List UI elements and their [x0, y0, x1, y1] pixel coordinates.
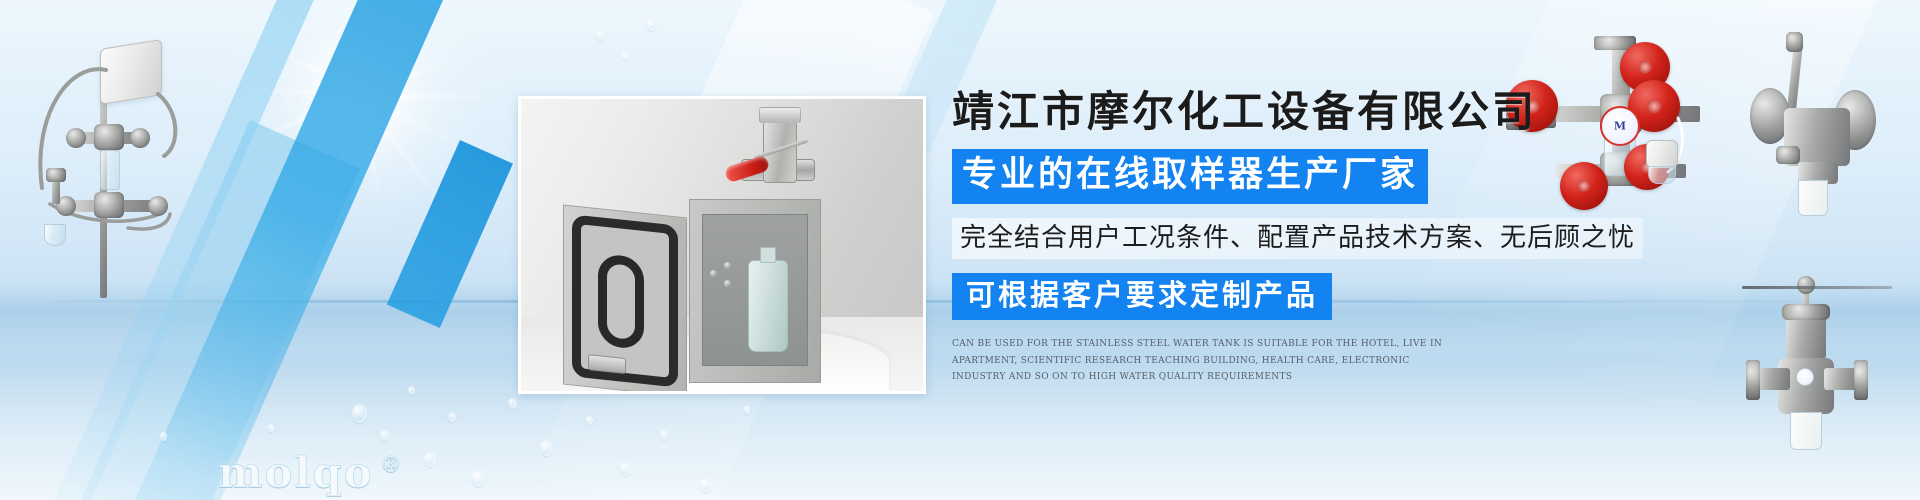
- diagonal-stripe-light: [21, 0, 361, 500]
- top-valve-assembly: [733, 105, 825, 209]
- instrument-housing: [100, 39, 162, 105]
- water-droplet: [160, 432, 167, 441]
- water-droplet: [424, 452, 436, 467]
- water-droplet: [268, 424, 274, 432]
- main-product-photo: [518, 96, 926, 394]
- left-equipment-assembly: [8, 28, 198, 298]
- company-name: 靖江市摩尔化工设备有限公司: [952, 87, 1537, 136]
- water-droplet: [660, 430, 668, 440]
- water-droplet: [586, 416, 593, 425]
- headline-highlight: 专业的在线取样器生产厂家: [952, 149, 1428, 204]
- company-name-row: 靖江市摩尔化工设备有限公司: [952, 88, 1742, 135]
- banner-text-block: 靖江市摩尔化工设备有限公司 专业的在线取样器生产厂家 完全结合用户工况条件、配置…: [952, 88, 1742, 386]
- water-droplet: [380, 430, 389, 441]
- registered-mark-icon: ®: [380, 452, 404, 478]
- water-droplet: [352, 404, 367, 423]
- subline-row: 完全结合用户工况条件、配置产品技术方案、无后顾之忧: [952, 218, 1742, 259]
- water-droplet: [540, 440, 553, 456]
- subline-text: 完全结合用户工况条件、配置产品技术方案、无后顾之忧: [952, 218, 1643, 259]
- diagonal-stripe-blue: [86, 0, 491, 500]
- enclosure-door: [563, 204, 687, 394]
- valve-handwheel: [1620, 42, 1670, 92]
- english-caption: CAN BE USED FOR THE STAINLESS STEEL WATE…: [952, 336, 1462, 386]
- headline-row: 专业的在线取样器生产厂家: [952, 149, 1742, 204]
- custom-row: 可根据客户要求定制产品: [952, 273, 1742, 320]
- water-droplet: [620, 462, 631, 476]
- water-droplet: [622, 52, 628, 60]
- water-droplet: [596, 30, 605, 41]
- water-droplet: [408, 386, 415, 395]
- water-droplet: [508, 398, 517, 409]
- sun-flare-icon: [180, 0, 540, 260]
- watermark-logo: molqo®: [218, 448, 404, 497]
- water-droplet: [646, 18, 657, 31]
- product-banner: M molqo®: [0, 0, 1920, 500]
- water-droplet: [448, 412, 456, 422]
- water-droplet: [700, 478, 712, 493]
- watermark-text: molqo: [218, 448, 374, 497]
- diagonal-stripe-pale: [22, 120, 359, 500]
- right-gate-valve: [1742, 268, 1920, 468]
- water-droplet: [472, 470, 486, 487]
- sampler-enclosure: [689, 199, 821, 383]
- sample-bottle: [748, 260, 788, 352]
- custom-highlight: 可根据客户要求定制产品: [952, 273, 1332, 320]
- right-lever-valve: [1742, 22, 1920, 222]
- water-droplet: [744, 406, 750, 414]
